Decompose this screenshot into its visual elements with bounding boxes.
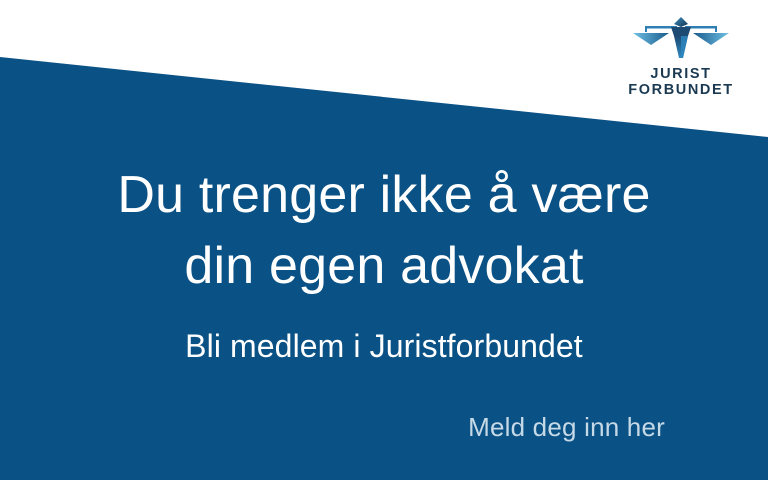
headline-line-1: Du trenger ikke å være [0, 160, 768, 231]
juristforbundet-logo[interactable]: JURIST FORBUNDET [622, 14, 740, 98]
headline-line-2: din egen advokat [0, 231, 768, 302]
signup-cta-link[interactable]: Meld deg inn her [468, 411, 665, 443]
subheadline: Bli medlem i Juristforbundet [0, 326, 768, 366]
headline: Du trenger ikke å være din egen advokat [0, 160, 768, 302]
logo-wordmark-line1: JURIST [622, 66, 740, 82]
scales-of-justice-icon [631, 14, 731, 60]
promo-banner: JURIST FORBUNDET Du trenger ikke å være … [0, 0, 768, 480]
logo-wordmark-line2: FORBUNDET [622, 82, 740, 98]
